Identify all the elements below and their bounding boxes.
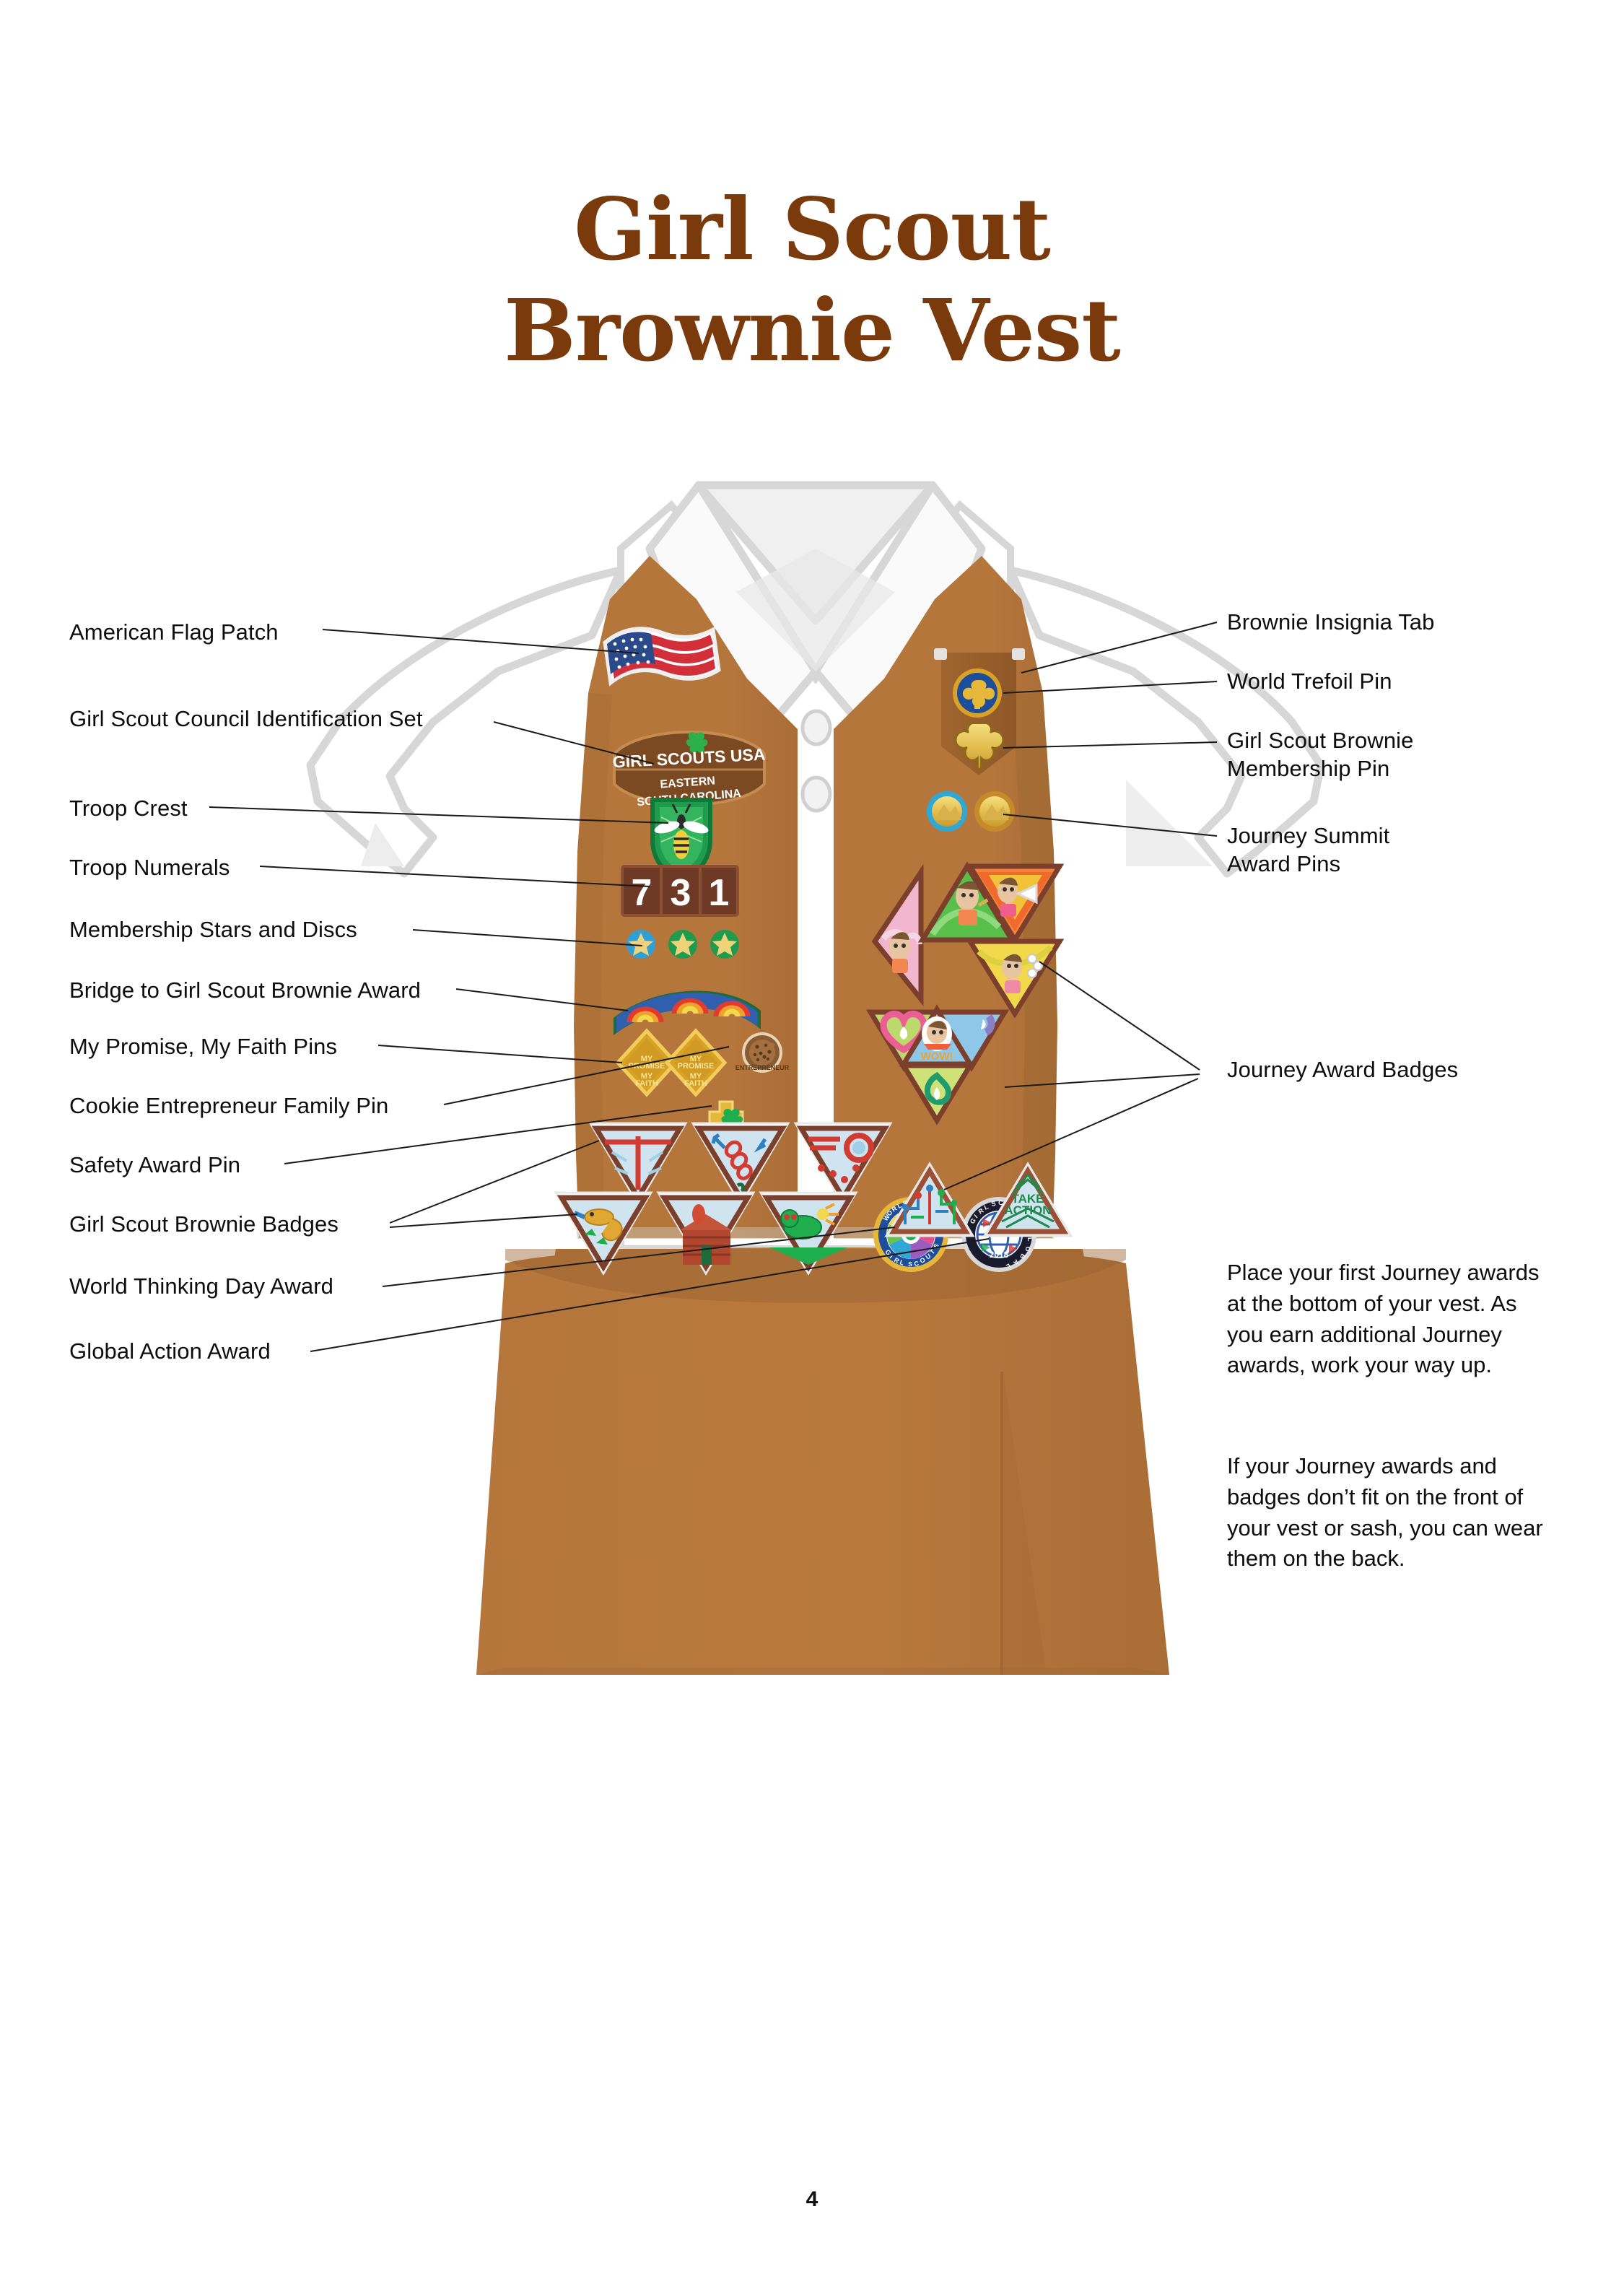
svg-text:PROMISE: PROMISE xyxy=(678,1062,715,1071)
svg-text:2018: 2018 xyxy=(990,1250,1009,1260)
label-troop-numerals: Troop Numerals xyxy=(69,853,230,881)
brownie-vest-illustration: GIRL SCOUTS USA EASTERN SOUTH CAROLINA xyxy=(0,0,1624,2274)
label-global-action-award: Global Action Award xyxy=(69,1337,271,1365)
svg-text:S: S xyxy=(908,1260,912,1268)
note-journey-placement: Place your first Journey awards at the b… xyxy=(1227,1258,1559,1381)
page-root: Girl Scout Brownie Vest xyxy=(0,0,1624,2274)
svg-text:FAITH: FAITH xyxy=(635,1079,658,1088)
label-my-promise-my-faith-pins: My Promise, My Faith Pins xyxy=(69,1032,337,1060)
svg-text:3: 3 xyxy=(671,872,691,914)
label-bridge-to-brownie-award: Bridge to Girl Scout Brownie Award xyxy=(69,976,421,1004)
label-brownie-membership-pin: Girl Scout Brownie Membership Pin xyxy=(1227,726,1414,783)
label-brownie-badges: Girl Scout Brownie Badges xyxy=(69,1210,339,1238)
svg-text:L: L xyxy=(1026,1237,1034,1242)
svg-text:WOW!: WOW! xyxy=(921,1050,953,1063)
label-safety-award-pin: Safety Award Pin xyxy=(69,1151,240,1179)
svg-text:1: 1 xyxy=(709,872,730,914)
svg-text:PROMISE: PROMISE xyxy=(629,1062,665,1071)
label-membership-stars-and-discs: Membership Stars and Discs xyxy=(69,915,357,944)
label-council-identification-set: Girl Scout Council Identification Set xyxy=(69,705,423,733)
label-cookie-entrepreneur-pin: Cookie Entrepreneur Family Pin xyxy=(69,1092,388,1120)
label-journey-summit-award-pins: Journey Summit Award Pins xyxy=(1227,822,1389,878)
svg-text:ENTREPRENEUR: ENTREPRENEUR xyxy=(735,1064,790,1071)
note-wear-on-back: If your Journey awards and badges don’t … xyxy=(1227,1451,1559,1574)
svg-text:ACTION: ACTION xyxy=(1004,1203,1051,1217)
label-american-flag-patch: American Flag Patch xyxy=(69,618,279,646)
label-troop-crest: Troop Crest xyxy=(69,794,188,822)
label-brownie-insignia-tab: Brownie Insignia Tab xyxy=(1227,608,1435,636)
svg-text:7: 7 xyxy=(632,872,652,914)
svg-text:FAITH: FAITH xyxy=(684,1079,707,1088)
page-number: 4 xyxy=(0,2187,1624,2212)
label-world-thinking-day-award: World Thinking Day Award xyxy=(69,1272,333,1300)
label-journey-award-badges: Journey Award Badges xyxy=(1227,1055,1458,1084)
label-world-trefoil-pin: World Trefoil Pin xyxy=(1227,667,1392,695)
